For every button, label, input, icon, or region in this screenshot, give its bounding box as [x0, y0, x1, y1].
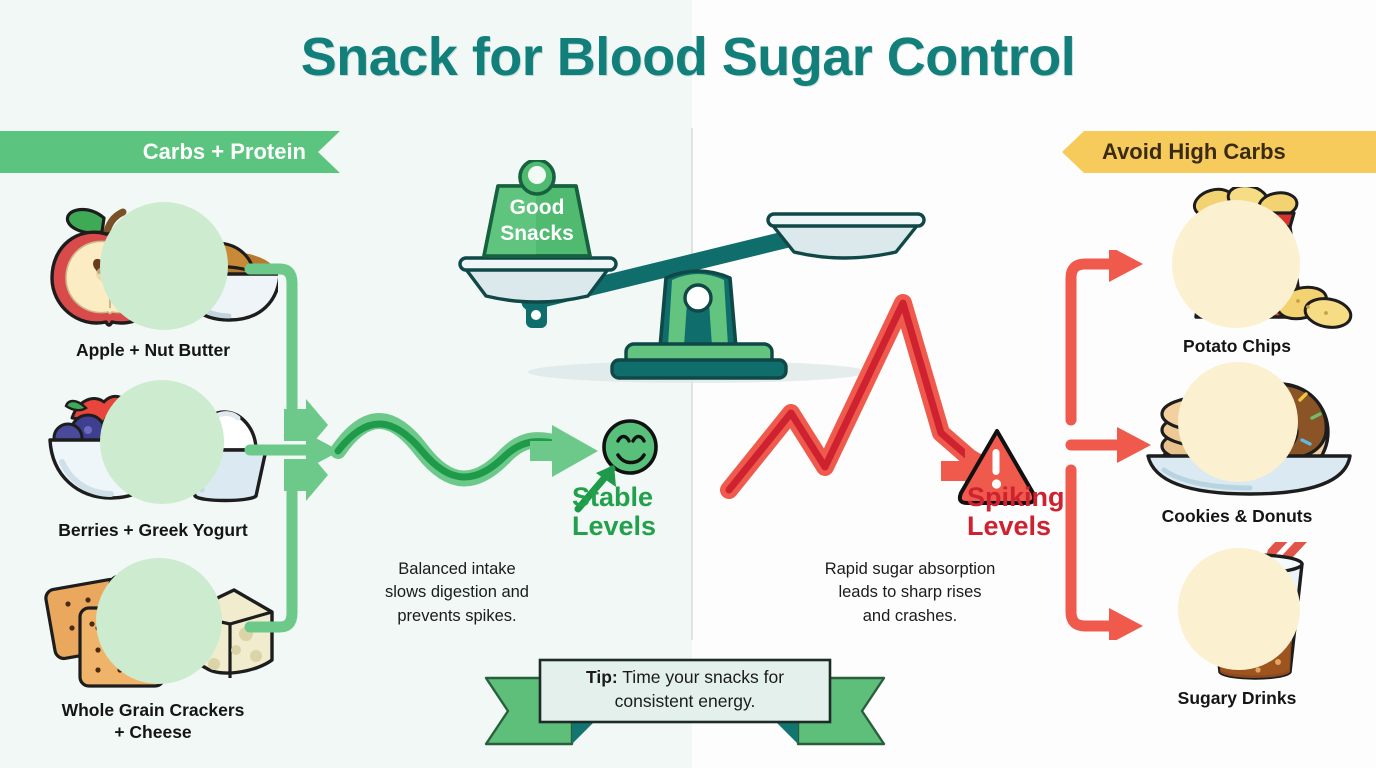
banner-right-label: Avoid High Carbs — [1102, 139, 1286, 165]
food-label: Whole Grain Crackers + Cheese — [8, 700, 298, 744]
tip-text: Tip: Time your snacks for consistent ene… — [565, 662, 805, 718]
banner-left-label: Carbs + Protein — [143, 139, 306, 165]
svg-text:Good: Good — [510, 196, 565, 219]
food-item-sugary-drinks: Sugary Drinks — [1092, 544, 1376, 710]
sugary-drink-icon — [1092, 544, 1376, 684]
spiking-levels-label: Spiking Levels — [967, 483, 1065, 541]
stable-levels-label: Stable Levels — [572, 483, 656, 541]
tip-prefix: Tip: — [586, 667, 618, 687]
tip-ribbon: Tip: Time your snacks for consistent ene… — [480, 648, 890, 756]
banner-avoid-high-carbs: Avoid High Carbs — [1062, 131, 1376, 173]
food-label: Sugary Drinks — [1092, 688, 1376, 710]
cookies-donuts-icon — [1092, 362, 1376, 502]
food-item-potato-chips: Potato Chips — [1092, 192, 1376, 358]
food-label: Cookies & Donuts — [1092, 506, 1376, 528]
stable-levels-description: Balanced intake slows digestion and prev… — [307, 558, 607, 628]
banner-carbs-protein: Carbs + Protein — [0, 131, 340, 173]
spiking-levels-description: Rapid sugar absorption leads to sharp ri… — [760, 558, 1060, 628]
page-title: Snack for Blood Sugar Control — [0, 26, 1376, 88]
tip-body: Time your snacks for consistent energy. — [615, 667, 784, 711]
infographic-canvas: Snack for Blood Sugar Control Carbs + Pr… — [0, 0, 1376, 768]
food-item-cookies-donuts: Cookies & Donuts — [1092, 362, 1376, 528]
potato-chips-icon — [1092, 192, 1376, 332]
food-label: Potato Chips — [1092, 336, 1376, 358]
svg-text:Snacks: Snacks — [500, 222, 574, 245]
